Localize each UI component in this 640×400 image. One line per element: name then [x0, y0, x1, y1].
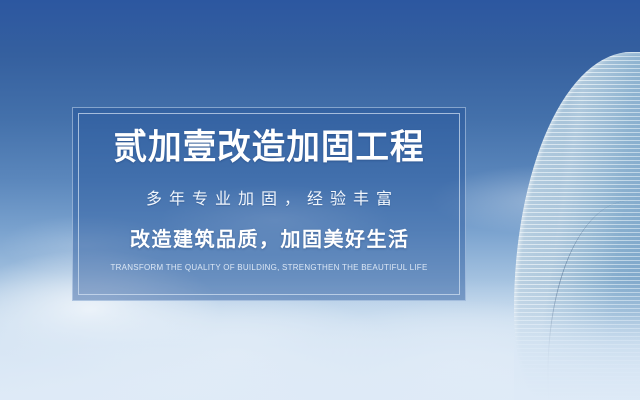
page-title: 贰加壹改造加固工程 [113, 130, 424, 167]
tower-base-haze [514, 314, 640, 400]
subtitle-text: 多年专业加固，经验丰富 [139, 185, 399, 209]
slogan-text: 改造建筑品质，加固美好生活 [129, 223, 410, 252]
hero-banner: 贰加壹改造加固工程 多年专业加固，经验丰富 改造建筑品质，加固美好生活 TRAN… [0, 0, 640, 400]
english-tagline: TRANSFORM THE QUALITY OF BUILDING, STREN… [110, 263, 427, 272]
headline-panel: 贰加壹改造加固工程 多年专业加固，经验丰富 改造建筑品质，加固美好生活 TRAN… [72, 107, 466, 301]
skyscraper-image [514, 52, 640, 400]
panel-content: 贰加壹改造加固工程 多年专业加固，经验丰富 改造建筑品质，加固美好生活 TRAN… [73, 108, 465, 300]
